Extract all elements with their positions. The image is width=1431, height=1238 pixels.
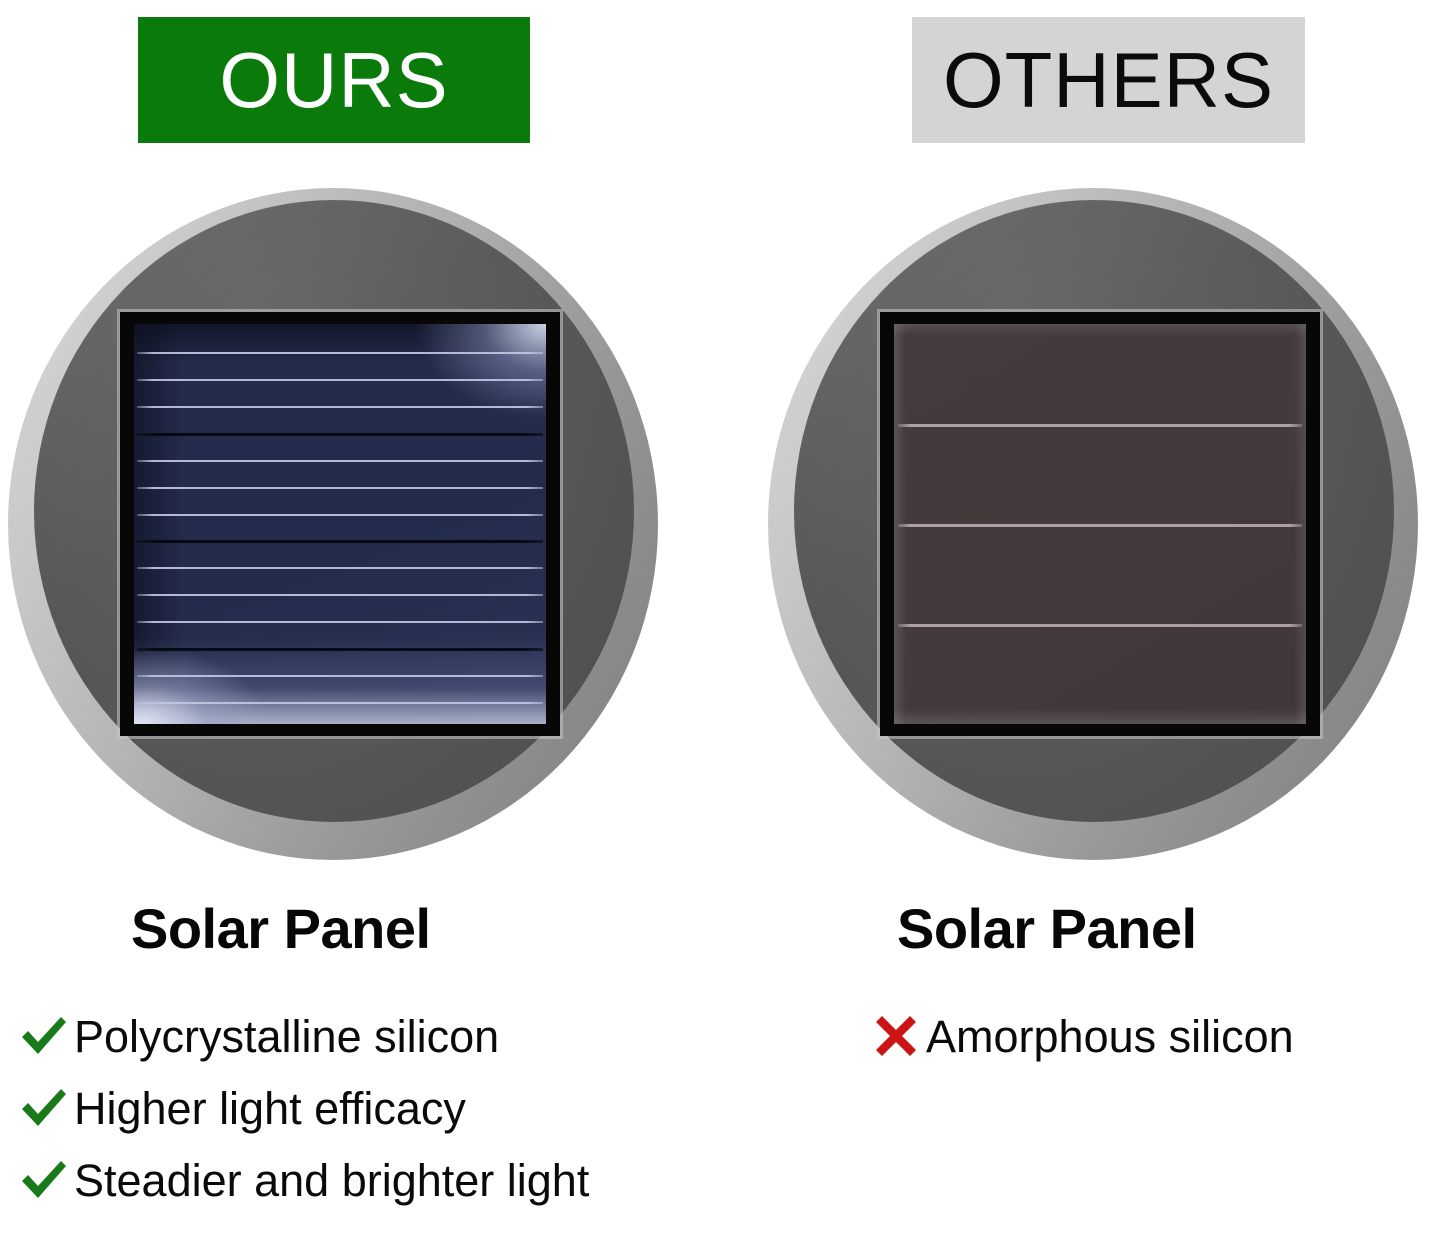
device-right-others <box>768 188 1418 860</box>
cell-busbar-line <box>137 406 543 408</box>
solar-panel-inner-right <box>894 324 1306 724</box>
cross-icon <box>866 1013 926 1059</box>
cell-divider-line <box>137 540 543 543</box>
solar-panel-frame-right <box>880 312 1320 736</box>
check-icon <box>14 1086 74 1130</box>
solar-panel-inner-left <box>134 324 546 724</box>
cell-busbar-line <box>137 621 543 623</box>
feature-label: Polycrystalline silicon <box>74 1014 499 1059</box>
feature-label: Amorphous silicon <box>926 1014 1294 1059</box>
feature-label: Higher light efficacy <box>74 1086 466 1131</box>
feature-item: Polycrystalline silicon <box>14 1000 589 1072</box>
cell-busbar-line <box>137 675 543 677</box>
badge-others: OTHERS <box>912 17 1305 143</box>
cell-divider-line <box>137 648 543 651</box>
cell-busbar-line <box>137 379 543 381</box>
cell-busbar-line <box>137 460 543 462</box>
cell-busbar-line <box>137 594 543 596</box>
cell-busbar-line <box>137 352 543 354</box>
cell-busbar-line <box>137 487 543 489</box>
cell-busbar-line <box>137 567 543 569</box>
polycrystalline-cell <box>134 324 546 724</box>
device-left-ours <box>8 188 658 860</box>
cell-busbar-line <box>898 624 1302 627</box>
panel-title-right: Solar Panel <box>897 896 1197 961</box>
solar-panel-frame-left <box>120 312 560 736</box>
feature-list-left: Polycrystalline siliconHigher light effi… <box>14 1000 589 1216</box>
feature-item: Amorphous silicon <box>866 1000 1294 1072</box>
cell-divider-line <box>137 433 543 436</box>
panel-title-left: Solar Panel <box>131 896 431 961</box>
check-icon <box>14 1014 74 1058</box>
cell-busbar-line <box>137 702 543 704</box>
feature-label: Steadier and brighter light <box>74 1158 589 1203</box>
feature-item: Steadier and brighter light <box>14 1144 589 1216</box>
check-icon <box>14 1158 74 1202</box>
comparison-infographic: OURS OTHERS Solar Panel Solar Panel Poly… <box>0 0 1431 1238</box>
cell-busbar-line <box>137 514 543 516</box>
amorphous-cell <box>894 324 1306 724</box>
cell-busbar-line <box>898 524 1302 527</box>
feature-item: Higher light efficacy <box>14 1072 589 1144</box>
badge-ours: OURS <box>138 17 530 143</box>
cell-busbar-line <box>898 424 1302 427</box>
feature-list-right: Amorphous silicon <box>866 1000 1294 1072</box>
